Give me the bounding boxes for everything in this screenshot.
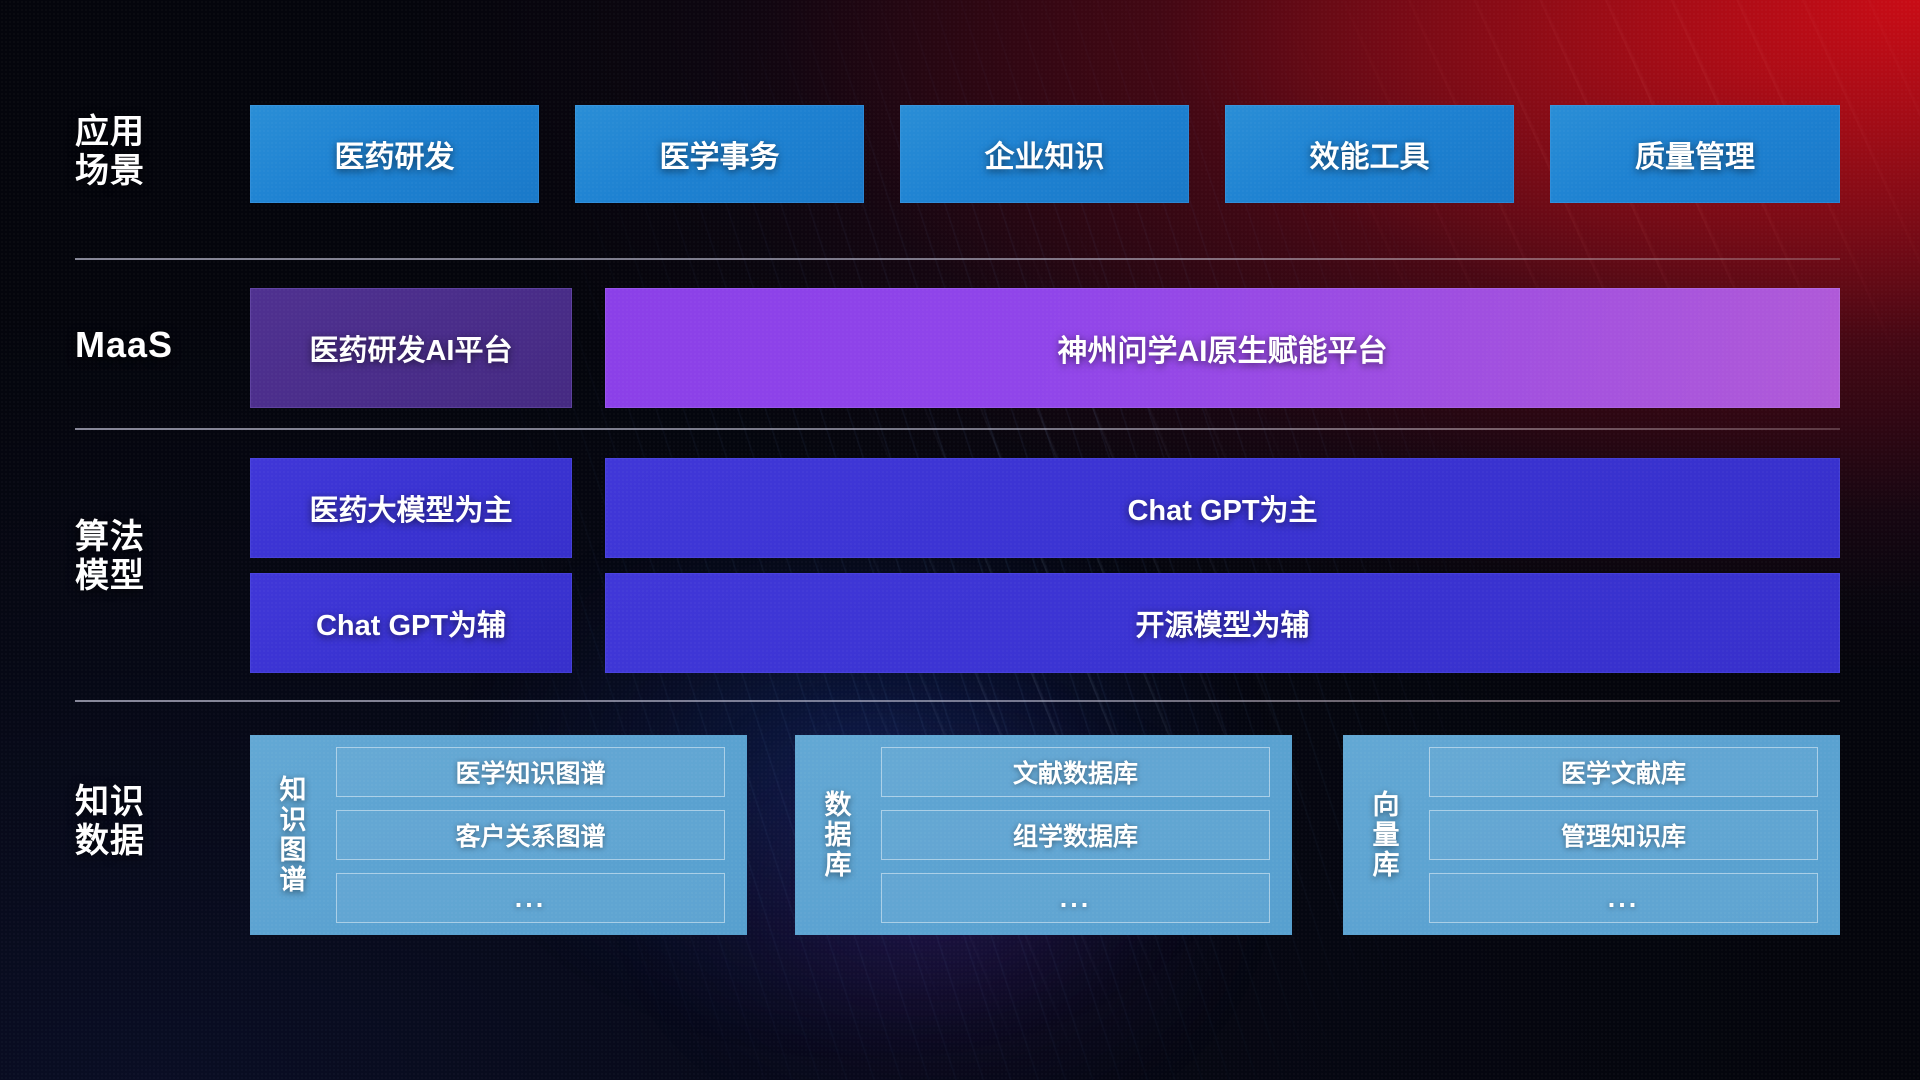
knowledge-group-title-char: 谱 [280, 865, 307, 895]
row-label-line: 数据 [75, 822, 250, 861]
app-card-efficiency-tools[interactable]: 效能工具 [1225, 105, 1514, 203]
knowledge-group-title-char: 图 [280, 835, 307, 865]
knowledge-item-medical-literature-store[interactable]: 医学文献库 [1429, 747, 1818, 797]
app-card-medical-affairs[interactable]: 医学事务 [575, 105, 864, 203]
knowledge-item-omics-database[interactable]: 组学数据库 [881, 810, 1270, 860]
knowledge-item-label: ... [515, 883, 547, 914]
knowledge-item-literature-database[interactable]: 文献数据库 [881, 747, 1270, 797]
algo-card-label: 医药大模型为主 [309, 487, 512, 529]
algo-card-opensource-secondary[interactable]: 开源模型为辅 [605, 573, 1840, 673]
app-card-label: 医学事务 [660, 132, 780, 176]
knowledge-group-title-char: 库 [1373, 850, 1400, 880]
maas-card-shenzhou-wenxue-platform[interactable]: 神州问学AI原生赋能平台 [605, 288, 1840, 408]
row-label-line: MaaS [75, 324, 250, 366]
algo-card-label: Chat GPT为主 [1127, 487, 1317, 529]
maas-card-medicine-rd-ai-platform[interactable]: 医药研发AI平台 [250, 288, 572, 408]
knowledge-group-title-char: 识 [280, 805, 307, 835]
app-card-enterprise-knowledge[interactable]: 企业知识 [900, 105, 1189, 203]
knowledge-item-more[interactable]: ... [1429, 873, 1818, 923]
knowledge-item-label: ... [1608, 883, 1640, 914]
row-separator-1 [75, 258, 1840, 260]
knowledge-group-title-char: 数 [825, 790, 852, 820]
knowledge-item-management-knowledge-store[interactable]: 管理知识库 [1429, 810, 1818, 860]
knowledge-item-label: 组学数据库 [1013, 817, 1138, 853]
knowledge-item-more[interactable]: ... [336, 873, 725, 923]
maas-card-label: 神州问学AI原生赋能平台 [1058, 326, 1388, 370]
app-card-label: 质量管理 [1635, 132, 1755, 176]
row-separator-3 [75, 700, 1840, 702]
knowledge-group-database[interactable]: 数 据 库 文献数据库 组学数据库 ... [795, 735, 1292, 935]
knowledge-group-knowledge-graph[interactable]: 知 识 图 谱 医学知识图谱 客户关系图谱 ... [250, 735, 747, 935]
algo-card-chatgpt-secondary[interactable]: Chat GPT为辅 [250, 573, 572, 673]
row-label-line: 算法 [75, 518, 250, 557]
app-card-label: 效能工具 [1310, 132, 1430, 176]
knowledge-group-items: 医学文献库 管理知识库 ... [1429, 747, 1818, 923]
knowledge-group-items: 医学知识图谱 客户关系图谱 ... [336, 747, 725, 923]
knowledge-group-title-char: 向 [1373, 790, 1400, 820]
row-label-line: 应用 [75, 113, 250, 152]
knowledge-item-more[interactable]: ... [881, 873, 1270, 923]
knowledge-item-label: ... [1060, 883, 1092, 914]
row-label-line: 场景 [75, 152, 250, 191]
knowledge-item-label: 文献数据库 [1013, 754, 1138, 790]
algo-card-medicine-large-model-primary[interactable]: 医药大模型为主 [250, 458, 572, 558]
knowledge-group-title-char: 库 [825, 850, 852, 880]
knowledge-item-customer-relation-graph[interactable]: 客户关系图谱 [336, 810, 725, 860]
knowledge-group-title-char: 据 [825, 820, 852, 850]
row-label-knowledge-data: 知识 数据 [75, 783, 250, 862]
row-label-algorithm-models: 算法 模型 [75, 518, 250, 597]
knowledge-item-label: 客户关系图谱 [455, 817, 605, 853]
knowledge-item-label: 管理知识库 [1561, 817, 1686, 853]
app-card-label: 企业知识 [985, 132, 1105, 176]
knowledge-group-vector-store[interactable]: 向 量 库 医学文献库 管理知识库 ... [1343, 735, 1840, 935]
knowledge-group-title-char: 量 [1373, 820, 1400, 850]
app-card-medicine-rd[interactable]: 医药研发 [250, 105, 539, 203]
knowledge-item-label: 医学文献库 [1561, 754, 1686, 790]
app-card-quality-management[interactable]: 质量管理 [1550, 105, 1840, 203]
knowledge-group-title-knowledge-graph: 知 识 图 谱 [264, 775, 322, 896]
knowledge-group-title-vector-store: 向 量 库 [1357, 790, 1415, 881]
knowledge-item-label: 医学知识图谱 [455, 754, 605, 790]
row-label-application-scenarios: 应用 场景 [75, 113, 250, 192]
algo-card-label: 开源模型为辅 [1135, 602, 1309, 644]
knowledge-item-medical-knowledge-graph[interactable]: 医学知识图谱 [336, 747, 725, 797]
algo-card-label: Chat GPT为辅 [316, 602, 506, 644]
maas-card-label: 医药研发AI平台 [309, 327, 512, 369]
knowledge-group-items: 文献数据库 组学数据库 ... [881, 747, 1270, 923]
row-separator-2 [75, 428, 1840, 430]
app-card-label: 医药研发 [335, 132, 455, 176]
knowledge-group-title-char: 知 [280, 775, 307, 805]
row-label-line: 知识 [75, 783, 250, 822]
row-label-line: 模型 [75, 557, 250, 596]
knowledge-group-title-database: 数 据 库 [809, 790, 867, 881]
architecture-diagram: 应用 场景 医药研发 医学事务 企业知识 效能工具 质量管理 MaaS 医药研发… [0, 0, 1920, 1080]
row-label-maas: MaaS [75, 324, 250, 366]
algo-card-chatgpt-primary[interactable]: Chat GPT为主 [605, 458, 1840, 558]
